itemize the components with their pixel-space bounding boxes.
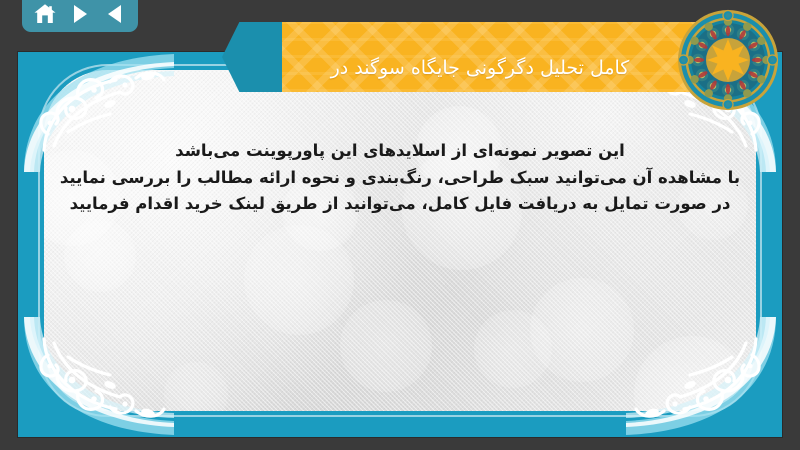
slide-body-text: این تصویر نمونه‌ای از اسلایدهای این پاور… [46,138,754,218]
page-title: کامل تحلیل دگرگونی جایگاه سوگند در فرآین… [282,22,720,92]
bokeh-circle [164,362,228,411]
triangle-left-icon [106,4,124,24]
triangle-right-icon [71,4,89,24]
navigation-bar [22,0,138,32]
bokeh-circle [244,225,354,335]
home-icon [33,3,57,25]
mandala-medallion-icon [676,8,780,112]
slide-content-panel [44,70,756,411]
next-slide-button[interactable] [66,1,94,27]
previous-slide-button[interactable] [101,1,129,27]
title-line: کامل تحلیل دگرگونی جایگاه سوگند در [296,54,664,83]
bokeh-circle [340,300,432,392]
slide-title-banner: کامل تحلیل دگرگونی جایگاه سوگند در فرآین… [222,22,720,92]
slide-canvas[interactable]: این تصویر نمونه‌ای از اسلایدهای این پاور… [18,52,782,437]
body-line: در صورت تمایل به دریافت فایل کامل، می‌تو… [46,191,754,218]
body-line: این تصویر نمونه‌ای از اسلایدهای این پاور… [46,138,754,165]
body-line: با مشاهده آن می‌توانید سبک طراحی، رنگ‌بن… [46,165,754,192]
banner-body: کامل تحلیل دگرگونی جایگاه سوگند در فرآین… [282,22,720,92]
panel-texture [44,70,756,411]
bokeh-circle [64,220,136,292]
slide-viewer: این تصویر نمونه‌ای از اسلایدهای این پاور… [0,0,800,450]
bokeh-circle [530,278,634,382]
home-button[interactable] [31,1,59,27]
bokeh-circle [474,310,552,388]
banner-arrow-tail [222,22,284,92]
